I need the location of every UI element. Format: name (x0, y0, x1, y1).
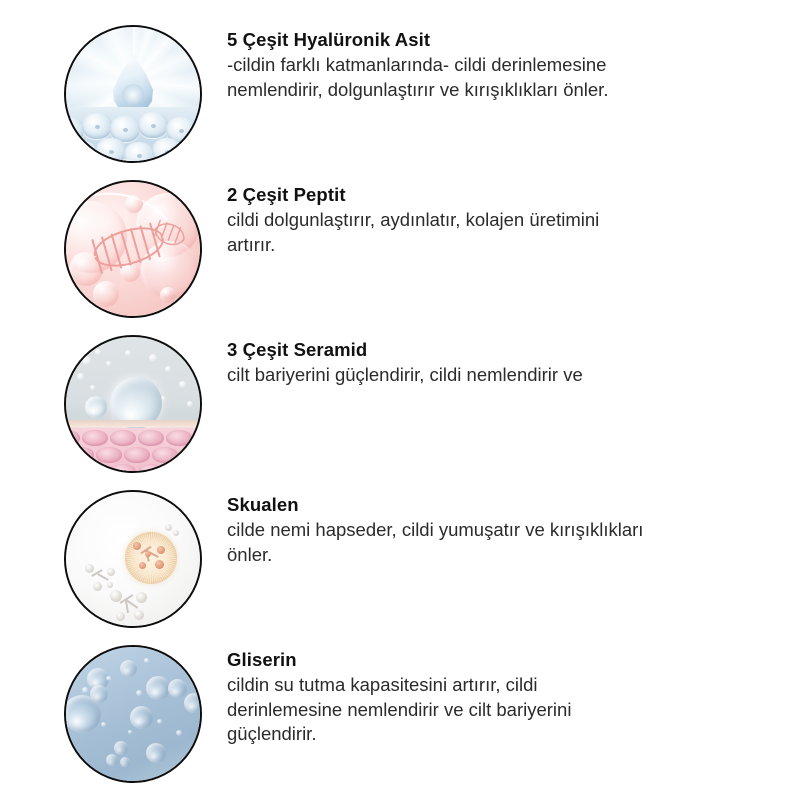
ingredient-description: -cildin farklı katmanlarında- cildi deri… (227, 53, 772, 102)
ingredient-copy: 5 Çeşit Hyalüronik Asit -cildin farklı k… (227, 10, 772, 102)
ingredient-thumbnail-skualen (64, 490, 202, 628)
molecule-grey (110, 588, 150, 622)
bubble-speck (82, 687, 88, 693)
skin-cell-layer (66, 428, 200, 471)
bubble (114, 741, 128, 755)
ingredient-copy: Skualen cilde nemi hapseder, cildi yumuş… (227, 475, 772, 567)
water-bubbles-icon (66, 647, 200, 781)
ingredient-item-hyaluronik-asit: 5 Çeşit Hyalüronik Asit -cildin farklı k… (0, 10, 800, 165)
bubble (90, 685, 108, 703)
ingredient-item-gliserin: Gliserin cildin su tutma kapasitesini ar… (0, 630, 800, 785)
molecule-grey-small (165, 524, 181, 538)
ingredient-description: cildi dolgunlaştırır, aydınlatır, kolaje… (227, 208, 772, 257)
ingredient-title: Skualen (227, 493, 772, 516)
ingredient-copy: 2 Çeşit Peptit cildi dolgunlaştırır, ayd… (227, 165, 772, 257)
amber-molecule-sphere-icon (66, 492, 200, 626)
bubble (168, 679, 187, 698)
dna-helix-bubbles-icon (66, 182, 200, 316)
bubble-skin-barrier-icon (66, 337, 200, 471)
bubble-speck (106, 676, 111, 681)
bubble-speck (101, 722, 106, 727)
ingredient-item-skualen: Skualen cilde nemi hapseder, cildi yumuş… (0, 475, 800, 630)
bubble-speck (144, 658, 149, 663)
small-bubble (85, 396, 107, 418)
water-droplet-skin-layers-icon (66, 27, 200, 161)
ingredient-copy: 3 Çeşit Seramid cilt bariyerini güçlendi… (227, 320, 772, 388)
ingredient-thumbnail-gliserin (64, 645, 202, 783)
ingredient-title: 3 Çeşit Seramid (227, 338, 772, 361)
ingredient-description: cilt bariyerini güçlendirir, cildi nemle… (227, 363, 772, 388)
skin-barrier-line (66, 420, 200, 427)
bubble-speck (136, 690, 142, 696)
ingredient-description: cildin su tutma kapasitesini artırır, ci… (227, 673, 772, 747)
ingredient-list: 5 Çeşit Hyalüronik Asit -cildin farklı k… (0, 0, 800, 800)
ingredient-title: 5 Çeşit Hyalüronik Asit (227, 28, 772, 51)
ingredient-copy: Gliserin cildin su tutma kapasitesini ar… (227, 630, 772, 747)
bubble (120, 757, 130, 767)
ingredient-thumbnail-hyaluronik-asit (64, 25, 202, 163)
cell-layer (66, 107, 200, 161)
molecule-amber (133, 540, 167, 570)
bubble (146, 743, 166, 763)
ingredient-title: 2 Çeşit Peptit (227, 183, 772, 206)
ingredient-item-seramid: 3 Çeşit Seramid cilt bariyerini güçlendi… (0, 320, 800, 475)
bubble (130, 706, 153, 729)
ingredient-thumbnail-seramid (64, 335, 202, 473)
ingredient-thumbnail-peptit (64, 180, 202, 318)
bubble-speck (157, 719, 162, 724)
ingredient-item-peptit: 2 Çeşit Peptit cildi dolgunlaştırır, ayd… (0, 165, 800, 320)
bubble (106, 754, 118, 766)
bubble-speck (128, 730, 132, 734)
bubble-speck (176, 730, 182, 736)
bubble (160, 287, 176, 303)
bubble (71, 660, 84, 673)
ingredient-title: Gliserin (227, 648, 772, 671)
bubble (184, 693, 200, 713)
ingredient-description: cilde nemi hapseder, cildi yumuşatır ve … (227, 518, 772, 567)
bubble (93, 281, 119, 307)
bubble (120, 660, 137, 677)
bubble (146, 676, 170, 700)
